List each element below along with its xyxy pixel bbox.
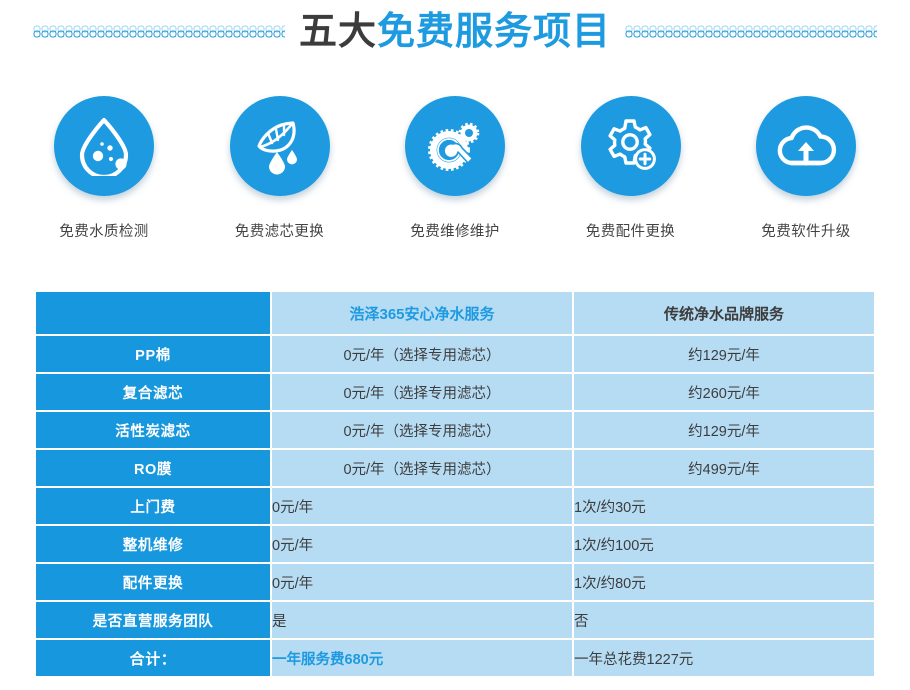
row-ours-value: 0元/年（选择专用滤芯） <box>272 374 572 410</box>
row-ours-value: 0元/年 <box>272 488 572 524</box>
row-traditional-value: 1次/约30元 <box>574 488 874 524</box>
table-row: RO膜 0元/年（选择专用滤芯） 约499元/年 <box>36 450 874 486</box>
table-row: 上门费 0元/年 1次/约30元 <box>36 488 874 524</box>
table-header-traditional: 传统净水品牌服务 <box>574 292 874 334</box>
row-feature: 配件更换 <box>36 564 270 600</box>
cloud-upload-icon <box>774 120 838 172</box>
table-row: 整机维修 0元/年 1次/约100元 <box>36 526 874 562</box>
row-ours-value: 0元/年 <box>272 564 572 600</box>
wavy-line-left-icon <box>33 25 285 39</box>
service-item-filter-change[interactable]: 免费滤芯更换 <box>210 96 350 241</box>
service-item-parts-change[interactable]: 免费配件更换 <box>561 96 701 241</box>
service-icon-circle <box>756 96 856 196</box>
row-feature: 复合滤芯 <box>36 374 270 410</box>
page-title-text: 五大免费服务项目 <box>299 9 611 55</box>
row-traditional-value: 约499元/年 <box>574 450 874 486</box>
service-icon-circle <box>54 96 154 196</box>
free-service-promo-page: 五大免费服务项目 免费水质检测 <box>0 0 910 690</box>
row-ours-value: 0元/年（选择专用滤芯） <box>272 450 572 486</box>
total-feature-label: 合计： <box>36 640 270 676</box>
row-ours-value: 是 <box>272 602 572 638</box>
page-title-blue-part: 免费服务项目 <box>377 11 611 53</box>
row-feature: RO膜 <box>36 450 270 486</box>
gear-plus-icon <box>602 117 660 175</box>
row-ours-value: 0元/年（选择专用滤芯） <box>272 336 572 372</box>
service-icon-row: 免费水质检测 免费滤芯更换 <box>0 96 910 241</box>
row-feature: 整机维修 <box>36 526 270 562</box>
service-label: 免费水质检测 <box>59 220 148 241</box>
table-body: 浩泽365安心净水服务 传统净水品牌服务 PP棉 0元/年（选择专用滤芯） 约1… <box>36 292 874 676</box>
service-item-water-test[interactable]: 免费水质检测 <box>34 96 174 241</box>
total-traditional-value: 一年总花费1227元 <box>574 640 874 676</box>
row-feature: 是否直营服务团队 <box>36 602 270 638</box>
row-traditional-value: 约129元/年 <box>574 336 874 372</box>
service-label: 免费维修维护 <box>410 220 499 241</box>
table-row: 活性炭滤芯 0元/年（选择专用滤芯） 约129元/年 <box>36 412 874 448</box>
table-total-row: 合计： 一年服务费680元 一年总花费1227元 <box>36 640 874 676</box>
service-label: 免费软件升级 <box>761 220 850 241</box>
row-traditional-value: 1次/约80元 <box>574 564 874 600</box>
page-title-dark-part: 五大 <box>299 11 377 53</box>
service-icon-circle <box>230 96 330 196</box>
table-row: 复合滤芯 0元/年（选择专用滤芯） 约260元/年 <box>36 374 874 410</box>
table-row: PP棉 0元/年（选择专用滤芯） 约129元/年 <box>36 336 874 372</box>
page-title: 五大免费服务项目 <box>0 6 910 58</box>
service-item-repair[interactable]: 免费维修维护 <box>385 96 525 241</box>
service-icon-circle <box>405 96 505 196</box>
service-label: 免费配件更换 <box>586 220 675 241</box>
service-comparison-table: 浩泽365安心净水服务 传统净水品牌服务 PP棉 0元/年（选择专用滤芯） 约1… <box>36 290 874 678</box>
gear-wrench-icon <box>425 116 485 176</box>
service-label: 免费滤芯更换 <box>235 220 324 241</box>
row-traditional-value: 1次/约100元 <box>574 526 874 562</box>
table-row: 是否直营服务团队 是 否 <box>36 602 874 638</box>
water-drop-test-icon <box>76 116 132 176</box>
service-icon-circle <box>581 96 681 196</box>
wavy-line-right-icon <box>625 25 877 39</box>
row-traditional-value: 约260元/年 <box>574 374 874 410</box>
table-header-row: 浩泽365安心净水服务 传统净水品牌服务 <box>36 292 874 334</box>
leaf-water-drop-icon <box>251 116 309 176</box>
service-item-software-upgrade[interactable]: 免费软件升级 <box>736 96 876 241</box>
table-header-ours: 浩泽365安心净水服务 <box>272 292 572 334</box>
table-row: 配件更换 0元/年 1次/约80元 <box>36 564 874 600</box>
row-feature: PP棉 <box>36 336 270 372</box>
row-traditional-value: 约129元/年 <box>574 412 874 448</box>
row-feature: 上门费 <box>36 488 270 524</box>
row-ours-value: 0元/年 <box>272 526 572 562</box>
table-header-feature <box>36 292 270 334</box>
row-feature: 活性炭滤芯 <box>36 412 270 448</box>
row-traditional-value: 否 <box>574 602 874 638</box>
total-ours-value: 一年服务费680元 <box>272 640 572 676</box>
row-ours-value: 0元/年（选择专用滤芯） <box>272 412 572 448</box>
